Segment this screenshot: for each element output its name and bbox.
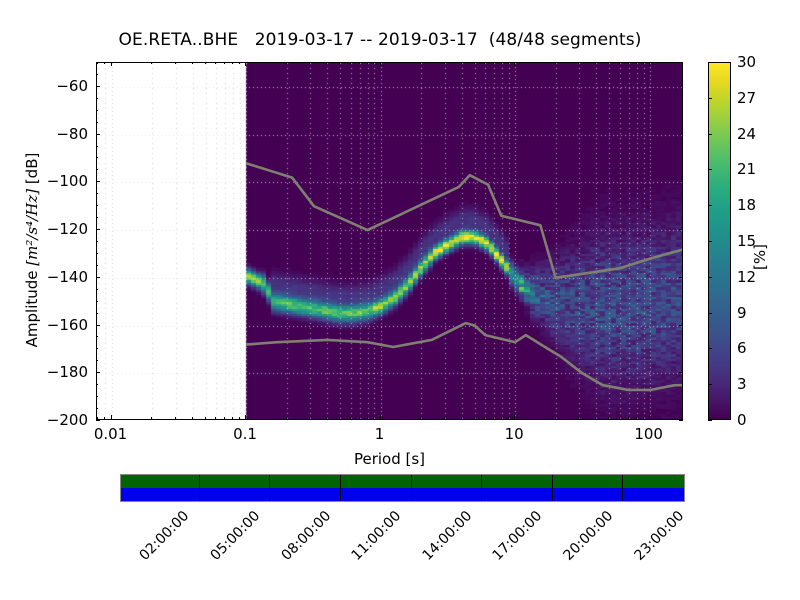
colorbar-tick-label: 12 [737,268,756,286]
x-minor-tick-top [367,62,368,64]
x-minor-tick-top [350,62,351,64]
x-minor-tick [484,417,485,419]
y-major-tick [96,420,100,421]
x-minor-tick [619,417,620,419]
y-minor-tick [96,157,98,158]
coverage-time-label: 17:00:00 [490,508,546,564]
colorbar-tick-label: 3 [737,375,747,393]
coverage-tick [552,475,553,501]
x-minor-tick-top [373,62,374,64]
y-minor-tick [96,360,98,361]
x-minor-tick-top [104,62,105,64]
data-coverage-bar [120,474,685,502]
x-minor-tick-top [643,62,644,64]
x-tick-label: 0.1 [233,425,257,443]
x-minor-tick [339,417,340,419]
y-minor-tick [96,193,98,194]
y-minor-tick [96,217,98,218]
x-minor-tick [350,417,351,419]
y-major-tick-right [679,134,683,135]
x-minor-tick-top [205,62,206,64]
colorbar-title: [%] [751,197,769,317]
x-major-tick-top [514,62,515,66]
coverage-tick [340,475,341,501]
x-major-tick-top [245,62,246,66]
x-minor-tick-top [420,62,421,64]
y-minor-tick [96,169,98,170]
y-major-tick [96,86,100,87]
coverage-tick [199,475,200,501]
ppsd-plot-axes [96,62,683,420]
x-minor-tick [636,417,637,419]
coverage-time-label: 02:00:00 [137,508,193,564]
x-minor-tick-top [175,62,176,64]
colorbar-tick [708,62,712,63]
y-tick-label: −180 [47,363,88,381]
x-minor-tick [151,417,152,419]
x-major-tick [649,415,650,419]
x-minor-tick [474,417,475,419]
y-tick-label: −140 [47,268,88,286]
x-minor-tick [232,417,233,419]
x-major-tick [245,415,246,419]
ppsd-figure: OE.RETA..BHE 2019-03-17 -- 2019-03-17 (4… [0,0,800,600]
coverage-time-label: 14:00:00 [419,508,475,564]
y-minor-tick [96,336,98,337]
x-minor-tick [643,417,644,419]
x-minor-tick [97,417,98,419]
x-minor-tick [608,417,609,419]
x-minor-tick [175,417,176,419]
colorbar-gradient [709,63,730,419]
x-minor-tick-top [484,62,485,64]
y-major-tick-right [679,86,683,87]
coverage-segment-green [121,475,684,488]
y-major-tick-right [679,372,683,373]
page-title: OE.RETA..BHE 2019-03-17 -- 2019-03-17 (4… [0,30,760,50]
noise-model-lines [97,63,682,419]
y-minor-tick [96,348,98,349]
coverage-time-label: 08:00:00 [278,508,334,564]
nhnm-line [246,163,682,278]
y-tick-label: −160 [47,316,88,334]
coverage-time-label: 23:00:00 [631,508,687,564]
x-minor-tick-top [595,62,596,64]
x-minor-tick [309,417,310,419]
y-minor-tick [96,98,98,99]
coverage-time-label: 20:00:00 [561,508,617,564]
y-major-tick [96,181,100,182]
x-minor-tick [286,417,287,419]
y-minor-tick [96,205,98,206]
x-minor-tick [373,417,374,419]
colorbar-tick-label: 0 [737,411,747,429]
x-minor-tick-top [493,62,494,64]
x-minor-tick-top [286,62,287,64]
y-minor-tick [96,253,98,254]
y-tick-label: −60 [56,77,88,95]
x-major-tick-top [380,62,381,66]
colorbar-tick-label: 15 [737,232,756,250]
colorbar-tick [708,384,712,385]
x-minor-tick-top [224,62,225,64]
x-major-tick-top [111,62,112,66]
colorbar-tick-label: 27 [737,89,756,107]
x-major-tick [111,415,112,419]
x-minor-tick [555,417,556,419]
x-minor-tick-top [501,62,502,64]
x-minor-tick-top [578,62,579,64]
x-minor-tick [104,417,105,419]
colorbar-tick-label: 24 [737,125,756,143]
x-minor-tick [205,417,206,419]
x-minor-tick-top [508,62,509,64]
y-minor-tick [96,408,98,409]
coverage-tick [269,475,270,501]
x-minor-tick [367,417,368,419]
y-major-tick-right [679,325,683,326]
y-axis-title-prefix: Amplitude [23,266,41,348]
y-major-tick-right [679,181,683,182]
x-minor-tick-top [619,62,620,64]
x-minor-tick [501,417,502,419]
coverage-tick [481,475,482,501]
colorbar-tick [708,205,712,206]
colorbar-tick [708,313,712,314]
x-minor-tick [444,417,445,419]
y-major-tick [96,372,100,373]
x-minor-tick [239,417,240,419]
y-axis-title: Amplitude [m²/s⁴/Hz] [dB] [23,85,41,415]
x-minor-tick-top [608,62,609,64]
x-minor-tick [508,417,509,419]
y-minor-tick [96,313,98,314]
x-minor-tick-top [555,62,556,64]
x-minor-tick-top [628,62,629,64]
x-minor-tick [326,417,327,419]
x-minor-tick [420,417,421,419]
x-minor-tick [628,417,629,419]
colorbar-tick [708,420,712,421]
y-major-tick [96,229,100,230]
x-minor-tick [215,417,216,419]
x-minor-tick-top [474,62,475,64]
y-minor-tick [96,241,98,242]
y-axis-title-suffix: [dB] [23,153,41,189]
colorbar-tick [708,241,712,242]
coverage-tick [622,475,623,501]
colorbar-tick [708,98,712,99]
x-minor-tick-top [309,62,310,64]
x-major-tick-top [649,62,650,66]
y-minor-tick [96,396,98,397]
coverage-time-label: 05:00:00 [207,508,263,564]
x-minor-tick-top [239,62,240,64]
y-tick-label: −80 [56,125,88,143]
x-minor-tick-top [359,62,360,64]
x-tick-label: 0.01 [94,425,127,443]
y-major-tick-right [679,277,683,278]
y-minor-tick [96,122,98,123]
y-major-tick [96,134,100,135]
y-major-tick-right [679,229,683,230]
coverage-segment-blue [121,488,684,501]
y-minor-tick [96,289,98,290]
x-minor-tick [578,417,579,419]
x-minor-tick-top [215,62,216,64]
y-tick-label: −100 [47,172,88,190]
y-minor-tick [96,146,98,147]
colorbar-tick [708,169,712,170]
y-minor-tick [96,384,98,385]
y-tick-label: −200 [47,411,88,429]
x-minor-tick [359,417,360,419]
x-minor-tick-top [444,62,445,64]
y-minor-tick [96,265,98,266]
x-tick-label: 10 [505,425,524,443]
x-tick-label: 100 [634,425,663,443]
x-minor-tick [224,417,225,419]
x-minor-tick-top [339,62,340,64]
y-minor-tick [96,74,98,75]
x-minor-tick [493,417,494,419]
x-axis-title: Period [s] [96,450,683,468]
x-minor-tick-top [461,62,462,64]
y-major-tick-right [679,420,683,421]
x-minor-tick-top [232,62,233,64]
colorbar-tick [708,134,712,135]
colorbar-tick-label: 9 [737,304,747,322]
colorbar-tick-label: 21 [737,160,756,178]
x-tick-label: 1 [375,425,385,443]
colorbar-tick-label: 6 [737,339,747,357]
colorbar-tick [708,277,712,278]
coverage-time-label: 11:00:00 [349,508,405,564]
y-axis-title-units: [m²/s⁴/Hz] [23,189,41,266]
x-minor-tick [595,417,596,419]
x-major-tick [514,415,515,419]
colorbar-tick-label: 30 [737,53,756,71]
x-minor-tick [461,417,462,419]
x-minor-tick-top [151,62,152,64]
nlnm-line [246,323,682,390]
y-major-tick [96,325,100,326]
coverage-tick [411,475,412,501]
y-minor-tick [96,62,98,63]
colorbar-tick-label: 18 [737,196,756,214]
y-tick-label: −120 [47,220,88,238]
plot-clip-region [97,63,682,419]
y-minor-tick [96,110,98,111]
x-minor-tick-top [192,62,193,64]
y-major-tick [96,277,100,278]
x-minor-tick-top [326,62,327,64]
colorbar-tick [708,348,712,349]
y-minor-tick [96,301,98,302]
x-minor-tick [192,417,193,419]
x-minor-tick-top [636,62,637,64]
x-major-tick [380,415,381,419]
